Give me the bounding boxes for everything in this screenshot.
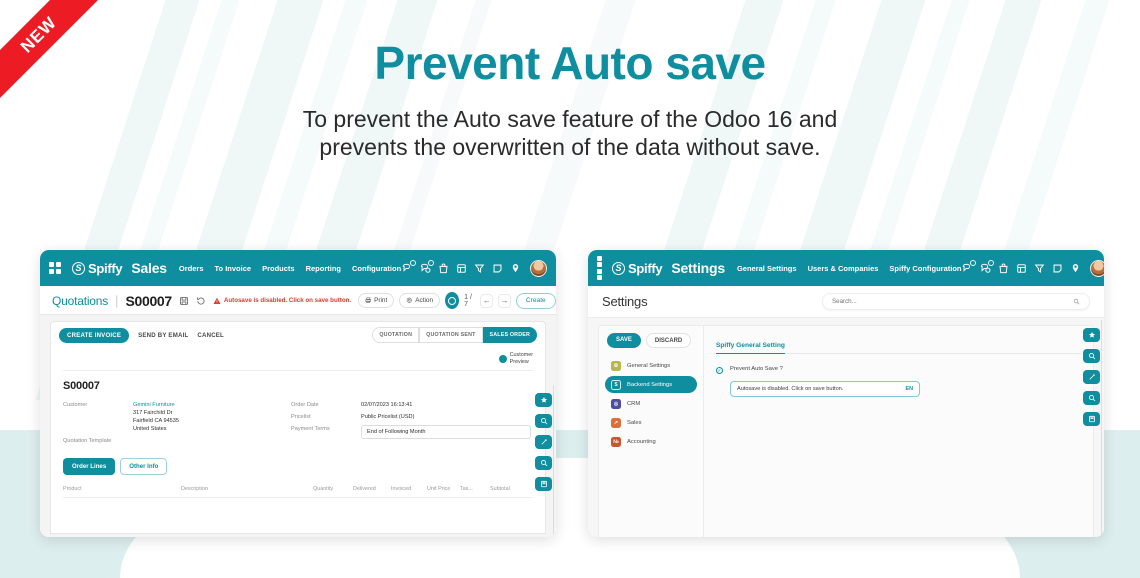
- apps-switch-icon[interactable]: [456, 263, 467, 274]
- sales-control-panel: Quotations | S00007 Autosave is disabled…: [40, 286, 556, 315]
- customer-address-1: 317 Fairchild Dr: [133, 410, 172, 416]
- payment-terms-label: Payment Terms: [291, 425, 353, 432]
- column-unit-price: Unit Price: [427, 486, 460, 492]
- note-icon[interactable]: [1052, 263, 1063, 274]
- search-icon[interactable]: [535, 414, 552, 428]
- brand-mark-icon: S: [612, 262, 625, 275]
- order-date-label: Order Date: [291, 401, 353, 408]
- settings-inner-panel: SAVE DISCARD ⚙ General Settings S Backen…: [598, 325, 1094, 537]
- messages-badge: [410, 260, 416, 266]
- section-title: Spiffy General Setting: [716, 342, 785, 354]
- pencil-icon[interactable]: [1083, 370, 1100, 384]
- activities-icon[interactable]: [420, 263, 431, 274]
- warning-triangle-icon: [213, 297, 221, 305]
- send-by-email-button[interactable]: SEND BY EMAIL: [138, 332, 188, 339]
- action-button[interactable]: Action: [399, 293, 440, 308]
- backend-settings-icon: S: [611, 380, 621, 390]
- record-pager: 1 / 7: [464, 294, 475, 308]
- settings-screenshot: S Spiffy Settings General Settings Users…: [588, 250, 1104, 537]
- general-settings-icon: ⚙: [611, 361, 621, 371]
- gear-icon: [406, 297, 413, 304]
- shopping-bag-icon[interactable]: [438, 263, 449, 274]
- sales-navbar: S Spiffy Sales Orders To Invoice Product…: [40, 250, 556, 286]
- tab-order-lines[interactable]: Order Lines: [63, 458, 115, 475]
- save-button[interactable]: SAVE: [607, 333, 641, 348]
- customer-value[interactable]: Gemini Furniture 317 Fairchild Dr Fairfi…: [133, 401, 179, 433]
- prevent-auto-save-label: Prevent Auto Save ?: [730, 366, 783, 372]
- messages-icon[interactable]: [402, 263, 413, 274]
- customer-address-3: United States: [133, 426, 167, 432]
- discard-changes-icon[interactable]: [196, 295, 206, 307]
- discard-button[interactable]: DISCARD: [646, 333, 691, 348]
- search-icon[interactable]: [1073, 298, 1080, 305]
- sidebar-item-accounting[interactable]: № Accounting: [605, 433, 697, 450]
- order-lines-header: Product Description Quantity Delivered I…: [63, 486, 533, 498]
- settings-page-title: Settings: [602, 294, 647, 309]
- save-indicator-button[interactable]: [445, 292, 459, 309]
- sales-statusbar: CREATE INVOICE SEND BY EMAIL CANCEL QUOT…: [50, 321, 546, 348]
- column-delivered: Delivered: [353, 486, 391, 492]
- sales-screenshot: S Spiffy Sales Orders To Invoice Product…: [40, 250, 556, 537]
- menu-item-reporting[interactable]: Reporting: [306, 264, 341, 273]
- language-badge[interactable]: EN: [906, 386, 914, 392]
- status-pipeline: QUOTATION QUOTATION SENT SALES ORDER: [372, 327, 537, 343]
- sidebar-item-label: CRM: [627, 401, 640, 407]
- brand-name: Spiffy: [628, 261, 662, 276]
- navbar-right-icons: [402, 260, 547, 277]
- menu-item-spiffy-configuration[interactable]: Spiffy Configuration: [889, 264, 961, 273]
- accounting-icon: №: [611, 437, 621, 447]
- user-avatar[interactable]: [530, 260, 547, 277]
- sidebar-item-backend-settings[interactable]: S Backend Settings: [605, 376, 697, 393]
- bookmark-icon[interactable]: [535, 477, 552, 491]
- sales-icon: ↗: [611, 418, 621, 428]
- create-button[interactable]: Create: [516, 293, 556, 309]
- form-notebook-tabs: Order Lines Other Info: [63, 458, 533, 475]
- form-fields: Customer Gemini Furniture 317 Fairchild …: [63, 401, 533, 444]
- sales-sheet-area: CREATE INVOICE SEND BY EMAIL CANCEL QUOT…: [40, 315, 556, 537]
- note-icon[interactable]: [492, 263, 503, 274]
- app-name[interactable]: Sales: [131, 260, 167, 276]
- autosave-message-input[interactable]: Autosave is disabled. Click on save butt…: [730, 381, 920, 397]
- field-quotation-template: Quotation Template: [63, 437, 273, 444]
- column-invoiced: Invoiced: [391, 486, 427, 492]
- cancel-button[interactable]: CANCEL: [197, 332, 224, 339]
- settings-control-panel: Settings: [588, 286, 1104, 318]
- control-panel-right: Print Action 1 / 7 ← → Create: [358, 292, 556, 309]
- megaphone-icon[interactable]: [1034, 263, 1045, 274]
- stage-quotation-sent[interactable]: QUOTATION SENT: [419, 327, 482, 343]
- smart-button-bar: Customer Preview: [63, 352, 533, 371]
- settings-search-box[interactable]: [822, 293, 1090, 310]
- crm-icon: ◎: [611, 399, 621, 409]
- field-customer: Customer Gemini Furniture 317 Fairchild …: [63, 401, 273, 433]
- breadcrumb-parent[interactable]: Quotations: [52, 294, 108, 308]
- brand-mark-icon: S: [72, 262, 85, 275]
- hero-section: Prevent Auto save To prevent the Auto sa…: [0, 38, 1140, 162]
- navbar-right-icons: [962, 260, 1105, 277]
- page-title: Prevent Auto save: [0, 38, 1140, 89]
- autosave-warning-text: Autosave is disabled. Click on save butt…: [224, 297, 351, 304]
- quotation-template-label: Quotation Template: [63, 437, 125, 444]
- sales-rail-divider: [553, 385, 554, 537]
- sales-side-rail: [535, 393, 552, 491]
- form-column-left: Customer Gemini Furniture 317 Fairchild …: [63, 401, 273, 444]
- messages-icon[interactable]: [962, 263, 973, 274]
- messages-badge: [970, 260, 976, 266]
- customer-name[interactable]: Gemini Furniture: [133, 402, 175, 408]
- brand-name: Spiffy: [88, 261, 122, 276]
- menu-item-users-companies[interactable]: Users & Companies: [808, 264, 879, 273]
- menu-item-general-settings[interactable]: General Settings: [737, 264, 797, 273]
- breadcrumb-separator: |: [115, 293, 118, 308]
- prevent-auto-save-checkbox[interactable]: ✓: [716, 367, 723, 374]
- payment-terms-input[interactable]: End of Following Month: [361, 425, 531, 439]
- breadcrumb-current: S00007: [125, 293, 171, 309]
- form-column-right: Order Date 02/07/2023 16:13:41 Pricelist…: [291, 401, 531, 444]
- field-payment-terms: Payment Terms End of Following Month: [291, 425, 531, 439]
- create-invoice-button[interactable]: CREATE INVOICE: [59, 328, 129, 343]
- sales-menu: Orders To Invoice Products Reporting Con…: [179, 264, 401, 273]
- settings-action-buttons: SAVE DISCARD: [605, 333, 697, 348]
- subtitle-line-1: To prevent the Auto save feature of the …: [303, 106, 838, 132]
- customer-preview-label: Customer Preview: [510, 352, 533, 366]
- sidebar-item-sales[interactable]: ↗ Sales: [605, 414, 697, 431]
- magnifier-icon[interactable]: [535, 456, 552, 470]
- column-tax: Tax...: [460, 486, 490, 492]
- brand-logo[interactable]: S Spiffy: [72, 261, 122, 276]
- menu-item-orders[interactable]: Orders: [179, 264, 204, 273]
- user-avatar[interactable]: [1090, 260, 1105, 277]
- pager-prev-icon[interactable]: ←: [480, 294, 493, 308]
- menu-item-to-invoice[interactable]: To Invoice: [215, 264, 252, 273]
- activities-badge: [428, 260, 434, 266]
- search-icon[interactable]: [1083, 349, 1100, 363]
- column-quantity: Quantity: [313, 486, 353, 492]
- star-icon[interactable]: [1083, 328, 1100, 342]
- order-date-value[interactable]: 02/07/2023 16:13:41: [361, 401, 412, 409]
- apps-switch-icon[interactable]: [1016, 263, 1027, 274]
- sales-form-sheet: Customer Preview S00007 Customer Gemini …: [50, 348, 546, 534]
- pager-next-icon[interactable]: →: [498, 294, 511, 308]
- globe-icon: [499, 355, 507, 363]
- sidebar-item-label: Sales: [627, 420, 642, 426]
- settings-rail-divider: [1101, 320, 1102, 537]
- record-title: S00007: [63, 380, 533, 392]
- app-name[interactable]: Settings: [671, 260, 725, 276]
- customer-preview-button[interactable]: Customer Preview: [499, 352, 533, 366]
- stage-sales-order[interactable]: SALES ORDER: [483, 327, 537, 343]
- menu-item-products[interactable]: Products: [262, 264, 295, 273]
- field-order-date: Order Date 02/07/2023 16:13:41: [291, 401, 531, 409]
- settings-side-rail: [1083, 328, 1100, 426]
- print-button[interactable]: Print: [358, 293, 394, 308]
- column-product: Product: [63, 486, 181, 492]
- customer-label: Customer: [63, 401, 125, 408]
- settings-menu: General Settings Users & Companies Spiff…: [737, 264, 962, 273]
- activities-icon[interactable]: [980, 263, 991, 274]
- sidebar-item-crm[interactable]: ◎ CRM: [605, 395, 697, 412]
- location-pin-icon[interactable]: [510, 263, 521, 274]
- search-input[interactable]: [832, 298, 1073, 305]
- activities-badge: [988, 260, 994, 266]
- pricelist-label: Pricelist: [291, 413, 353, 420]
- star-icon[interactable]: [535, 393, 552, 407]
- sidebar-item-general-settings[interactable]: ⚙ General Settings: [605, 357, 697, 374]
- action-label: Action: [415, 297, 433, 304]
- tab-other-info[interactable]: Other Info: [120, 458, 167, 475]
- pencil-icon[interactable]: [535, 435, 552, 449]
- brand-logo[interactable]: S Spiffy: [612, 261, 662, 276]
- column-description: Description: [181, 486, 313, 492]
- sidebar-item-label: General Settings: [627, 363, 670, 369]
- bookmark-icon[interactable]: [1083, 412, 1100, 426]
- location-pin-icon[interactable]: [1070, 263, 1081, 274]
- pricelist-value[interactable]: Public Pricelist (USD): [361, 413, 414, 421]
- shopping-bag-icon[interactable]: [998, 263, 1009, 274]
- magnifier-icon[interactable]: [1083, 391, 1100, 405]
- print-label: Print: [374, 297, 387, 304]
- stage-quotation[interactable]: QUOTATION: [372, 327, 419, 343]
- printer-icon: [365, 297, 372, 304]
- page-subtitle: To prevent the Auto save feature of the …: [0, 105, 1140, 163]
- settings-sidebar: SAVE DISCARD ⚙ General Settings S Backen…: [599, 326, 704, 537]
- settings-main-pane: Spiffy General Setting ✓ Prevent Auto Sa…: [704, 326, 1093, 537]
- sidebar-item-label: Backend Settings: [627, 382, 672, 388]
- save-manual-icon[interactable]: [179, 295, 189, 307]
- apps-grid-icon[interactable]: [49, 262, 62, 274]
- prevent-auto-save-option: ✓ Prevent Auto Save ?: [716, 366, 1081, 374]
- settings-navbar: S Spiffy Settings General Settings Users…: [588, 250, 1104, 286]
- autosave-message-value: Autosave is disabled. Click on save butt…: [737, 386, 906, 392]
- field-pricelist: Pricelist Public Pricelist (USD): [291, 413, 531, 421]
- menu-item-configuration[interactable]: Configuration: [352, 264, 401, 273]
- column-subtotal: Subtotal: [490, 486, 510, 492]
- customer-address-2: Fairfield CA 94535: [133, 418, 179, 424]
- subtitle-line-2: prevents the overwritten of the data wit…: [319, 134, 820, 160]
- megaphone-icon[interactable]: [474, 263, 485, 274]
- autosave-warning: Autosave is disabled. Click on save butt…: [213, 297, 351, 305]
- settings-body: SAVE DISCARD ⚙ General Settings S Backen…: [588, 318, 1104, 537]
- sidebar-item-label: Accounting: [627, 439, 656, 445]
- section-header: Spiffy General Setting: [716, 334, 1081, 354]
- apps-grid-icon[interactable]: [597, 256, 602, 281]
